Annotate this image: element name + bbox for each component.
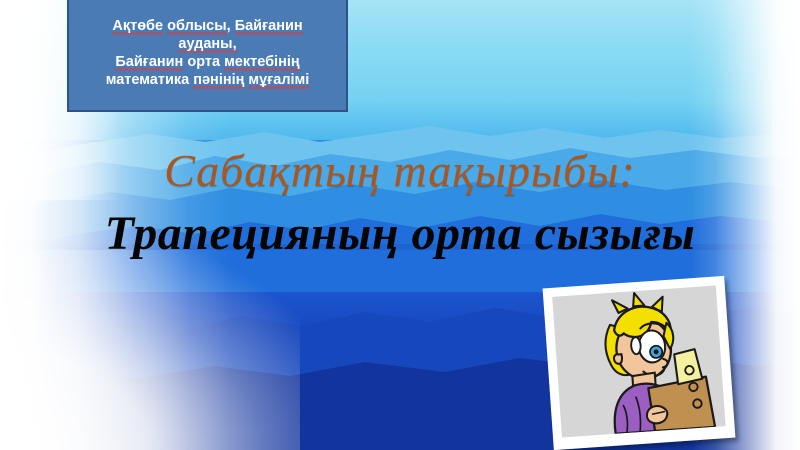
illustration-photo-frame[interactable]	[543, 276, 736, 450]
author-info-line-3: Байғанин орта мектебінің	[115, 53, 299, 71]
author-info-line-4: математика пәнінің мұғалімі	[106, 71, 310, 89]
author-info-line-1: Ақтөбе облысы, Байғанин	[112, 17, 302, 35]
misspelled-word: мектебінің	[224, 54, 300, 71]
misspelled-word: облысы	[167, 18, 227, 35]
misspelled-word: мұғалімі	[248, 72, 309, 89]
lesson-title: Трапецияның орта сызығы	[0, 206, 800, 262]
misspelled-word: Байғанин	[235, 18, 303, 35]
text-plain: орта	[183, 54, 224, 70]
misspelled-word: Байғанин	[115, 54, 183, 71]
text-separator: ,	[227, 18, 235, 34]
lesson-topic-label: Сабақтың тақырыбы:	[0, 146, 800, 196]
bottom-left-edge-fade	[0, 250, 300, 450]
misspelled-word: ауданы,	[178, 36, 236, 53]
text-plain: математика	[106, 72, 194, 88]
author-info-line-2: ауданы,	[178, 35, 236, 53]
misspelled-word: пәнінің	[193, 72, 244, 89]
presentation-slide: Ақтөбе облысы, Байғанин ауданы, Байғанин…	[0, 0, 800, 450]
misspelled-word: Ақтөбе	[112, 18, 163, 35]
author-info-textbox[interactable]: Ақтөбе облысы, Байғанин ауданы, Байғанин…	[67, 0, 348, 112]
child-reading-illustration	[552, 285, 725, 437]
